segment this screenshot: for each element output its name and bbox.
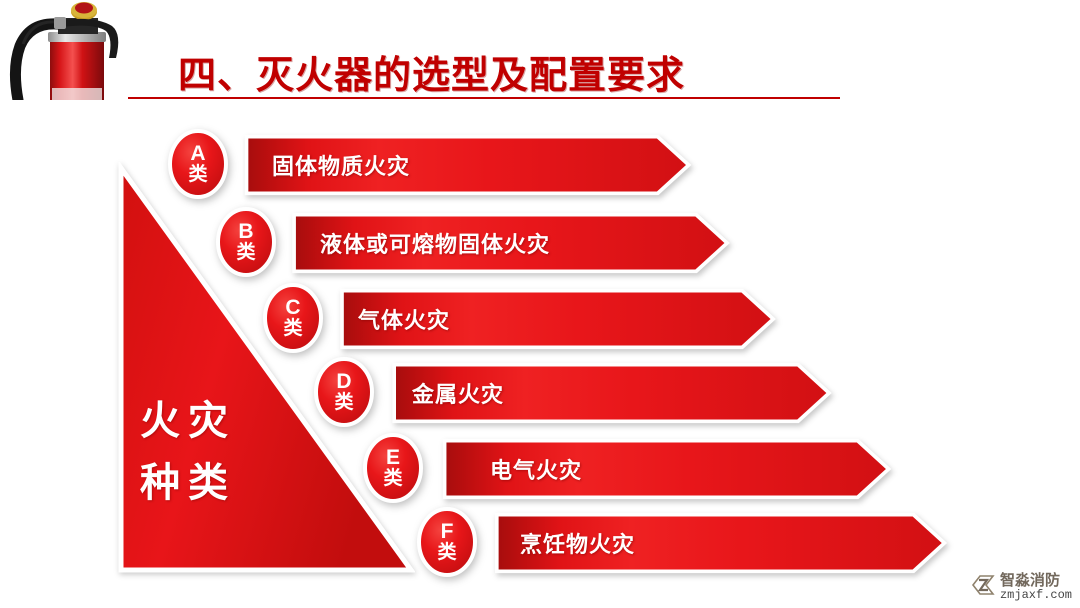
watermark-url: zmjaxf.com <box>1000 589 1072 602</box>
fire-class-badge[interactable] <box>362 432 424 504</box>
fire-extinguisher-icon <box>0 0 152 100</box>
fire-category-arrow[interactable] <box>270 212 754 274</box>
fire-class-badge[interactable] <box>416 506 478 578</box>
fire-category-arrow[interactable] <box>222 134 716 196</box>
fire-class-badge[interactable] <box>167 128 229 200</box>
slide-canvas: 四、灭火器的选型及配置要求 火灾 种类 固体物质火灾A类液体或可熔物固体火灾B类… <box>0 0 1080 608</box>
zmjaxf-logo-icon <box>971 573 995 602</box>
fire-class-badge[interactable] <box>215 206 277 278</box>
fire-category-row[interactable]: 气体火灾C类 <box>0 288 1080 350</box>
fire-category-row[interactable]: 金属火灾D类 <box>0 362 1080 424</box>
fire-category-row[interactable]: 烹饪物火灾F类 <box>0 512 1080 574</box>
fire-category-row[interactable]: 液体或可熔物固体火灾B类 <box>0 212 1080 274</box>
fire-category-arrow[interactable] <box>370 362 856 424</box>
fire-category-arrow[interactable] <box>318 288 800 350</box>
fire-class-badge[interactable] <box>262 282 324 354</box>
fire-category-arrow[interactable] <box>420 438 916 500</box>
fire-class-badge[interactable] <box>313 356 375 428</box>
title-underline <box>128 97 840 99</box>
page-title: 四、灭火器的选型及配置要求 <box>178 44 685 99</box>
watermark: 智淼消防 zmjaxf.com <box>971 573 1072 602</box>
fire-category-row[interactable]: 电气火灾E类 <box>0 438 1080 500</box>
fire-category-arrow[interactable] <box>472 512 972 574</box>
fire-category-row[interactable]: 固体物质火灾A类 <box>0 134 1080 196</box>
watermark-name: 智淼消防 <box>1000 573 1072 589</box>
